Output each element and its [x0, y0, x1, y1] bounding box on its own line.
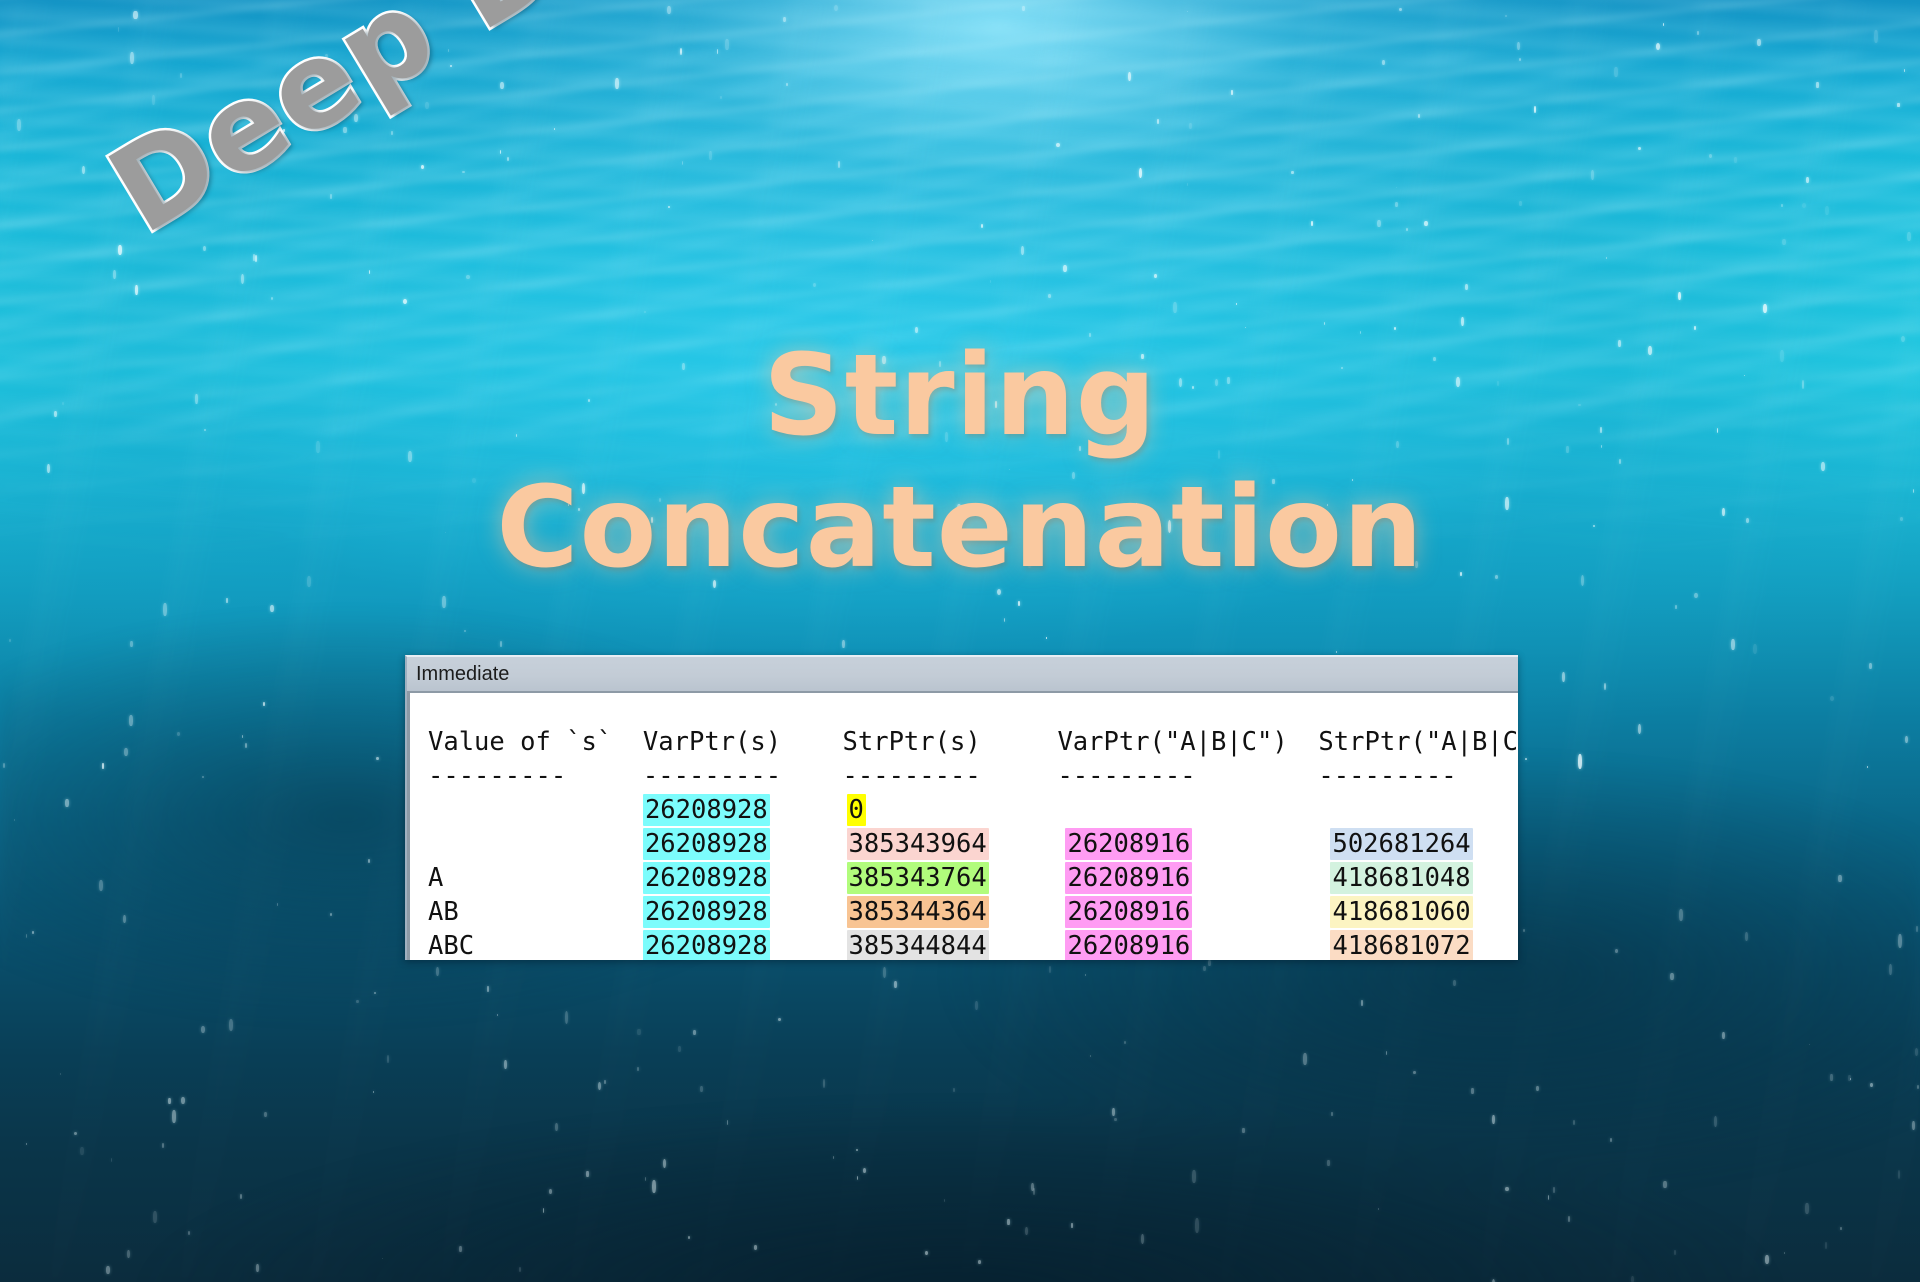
background-image: [0, 0, 1920, 1282]
immediate-window-output: Value of `s` VarPtr(s) StrPtr(s) VarPtr(…: [428, 725, 1518, 961]
output-cell: 502681264: [1330, 828, 1472, 860]
page-title: String Concatenation: [0, 330, 1920, 594]
output-cell: 418681060: [1330, 896, 1472, 928]
output-cell: 26208916: [1065, 896, 1192, 928]
page-title-line2: Concatenation: [0, 462, 1920, 594]
output-cell: 385344364: [847, 896, 989, 928]
output-cell: 26208928: [643, 828, 770, 860]
immediate-window-body[interactable]: Value of `s` VarPtr(s) StrPtr(s) VarPtr(…: [407, 693, 1518, 960]
immediate-window-title: Immediate: [416, 663, 509, 686]
output-cell: 385343964: [847, 828, 989, 860]
output-cell: 26208916: [1065, 862, 1192, 894]
page-title-line1: String: [0, 330, 1920, 462]
output-cell: 26208916: [1065, 930, 1192, 961]
output-cell: 26208928: [643, 862, 770, 894]
output-cell: 26208928: [643, 896, 770, 928]
output-cell: 26208928: [643, 794, 770, 826]
bubble-particles: [0, 0, 1920, 1282]
output-cell: 385343764: [847, 862, 989, 894]
output-cell: 26208928: [643, 930, 770, 961]
output-cell: 26208916: [1065, 828, 1192, 860]
immediate-window-titlebar[interactable]: Immediate: [407, 657, 1518, 693]
output-cell: 418681048: [1330, 862, 1472, 894]
immediate-window[interactable]: Immediate Value of `s` VarPtr(s) StrPtr(…: [405, 655, 1518, 960]
output-cell: 0: [847, 794, 866, 826]
output-cell: 418681072: [1330, 930, 1472, 961]
output-cell: 385344844: [847, 930, 989, 961]
